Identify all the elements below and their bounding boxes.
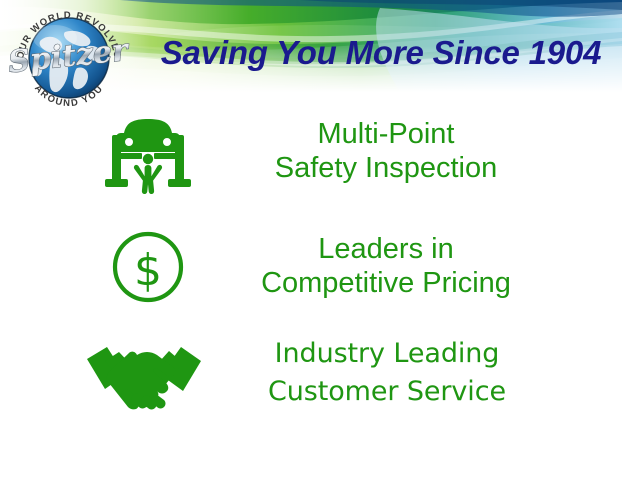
feature-line: Customer Service <box>214 373 560 411</box>
feature-line: Competitive Pricing <box>216 267 556 301</box>
slide-canvas: OUR WORLD REVOLVES AROUND YOU Spitzer Sa… <box>0 0 622 483</box>
feature-row-safety-inspection: Multi-Point Safety Inspection <box>86 106 556 198</box>
feature-row-customer-service: Industry Leading Customer Service <box>78 326 560 420</box>
handshake-icon <box>78 332 210 414</box>
feature-text-competitive-pricing: Leaders in Competitive Pricing <box>210 233 556 300</box>
feature-line: Multi-Point <box>216 118 556 152</box>
car-on-lift-icon <box>86 108 210 196</box>
feature-row-competitive-pricing: $ Leaders in Competitive Pricing <box>86 222 556 312</box>
feature-text-safety-inspection: Multi-Point Safety Inspection <box>210 118 556 185</box>
page-title: Saving You More Since 1904 <box>148 36 614 69</box>
feature-text-customer-service: Industry Leading Customer Service <box>210 335 560 412</box>
feature-line: Leaders in <box>216 233 556 267</box>
dollar-circle-icon: $ <box>86 225 210 309</box>
spitzer-logo[interactable]: OUR WORLD REVOLVES AROUND YOU Spitzer <box>5 2 133 114</box>
svg-text:$: $ <box>134 245 162 296</box>
feature-line: Industry Leading <box>214 335 560 373</box>
feature-line: Safety Inspection <box>216 152 556 186</box>
